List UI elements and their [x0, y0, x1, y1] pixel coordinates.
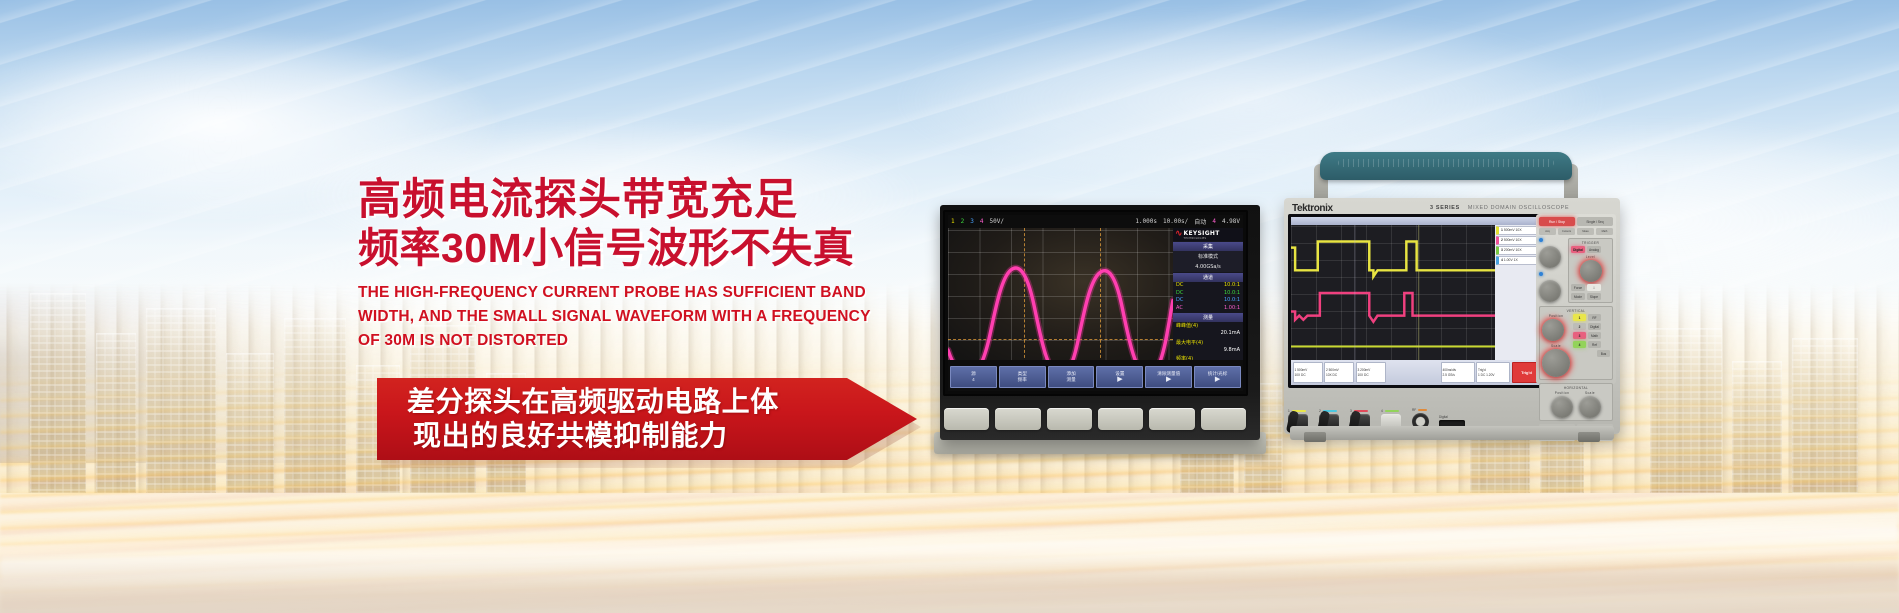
tk-badge-scale: 1.00V	[1504, 258, 1513, 262]
ks-coupling: DC	[1176, 282, 1183, 290]
tk-setting-ch2[interactable]: 2 500mV 10X DC	[1324, 362, 1354, 383]
tk-settings-spacer	[1387, 363, 1439, 382]
channel-3-button[interactable]: 3	[1573, 332, 1586, 339]
ks-sk-arrow-icon: ▶	[1117, 376, 1122, 383]
bottom-fade	[0, 553, 1899, 613]
tk-top-toolbar[interactable]	[1291, 217, 1543, 225]
tektronix-model-line: 3 SERIESMIXED DOMAIN OSCILLOSCOPE	[1430, 205, 1569, 211]
horizontal-position-label: Position	[1551, 391, 1573, 395]
ks-meas-value: 20.1mA	[1176, 330, 1240, 337]
tk-badge-atten: 10X	[1516, 238, 1522, 242]
ks-channel-row: DC 10.0:1	[1173, 297, 1243, 305]
run-stop-button[interactable]: Run / Stop	[1539, 217, 1575, 226]
ref-button[interactable]: Ref	[1588, 341, 1601, 348]
subheadline-line-2: WIDTH, AND THE SMALL SIGNAL WAVEFORM WIT…	[358, 305, 918, 329]
trigger-analog-button[interactable]: Analog	[1587, 246, 1601, 253]
tektronix-carry-handle[interactable]	[1320, 152, 1572, 180]
rf-button[interactable]: RF	[1588, 314, 1601, 321]
subheadline-line-1: THE HIGH-FREQUENCY CURRENT PROBE HAS SUF…	[358, 281, 918, 305]
channel-1-button[interactable]: 1	[1573, 314, 1586, 321]
keysight-softkey-row: 源 4 类型 频率 添加 测量 设置 ▶	[948, 360, 1243, 391]
ks-ratio: 1.00:1	[1224, 305, 1240, 313]
ks-meas-value: 9.8mA	[1176, 347, 1240, 354]
trigger-mode-button[interactable]: Mode	[1571, 293, 1585, 300]
ks-sk-line2: 测量	[1066, 377, 1075, 383]
ks-front-button[interactable]	[1047, 408, 1092, 430]
bnc-4-number: 4	[1381, 409, 1383, 413]
keysight-brand-text: KEYSIGHT	[1184, 230, 1220, 237]
ks-ratio: 10.0:1	[1224, 282, 1240, 290]
tk-setting-line2: 10X DC	[1295, 373, 1321, 377]
trigger-level-label: Level	[1571, 255, 1610, 259]
vertical-position-label: Position	[1542, 314, 1570, 318]
digital-button[interactable]: Digital	[1588, 323, 1601, 330]
ks-coupling: DC	[1176, 297, 1183, 305]
acquire-button[interactable]: Acq	[1539, 228, 1556, 235]
headline-line-2: 频率30M小信号波形不失真	[358, 226, 918, 272]
ks-sk-line2: 频率	[1018, 377, 1027, 383]
subheadline-line-3: OF 30M IS NOT DISTORTED	[358, 329, 918, 353]
rf-color-stripe	[1418, 409, 1427, 412]
tk-badge-atten: 10X	[1516, 248, 1522, 252]
ks-acquire-mode: 标准模式	[1173, 251, 1243, 262]
tk-setting-line2: 10X DC	[1358, 373, 1384, 377]
tektronix-foot	[1578, 432, 1600, 442]
ks-channel-1-label: 1	[948, 218, 958, 225]
tk-multipurpose-knobs	[1539, 238, 1565, 306]
keysight-brand-sub: TECHNOLOGIES	[1184, 237, 1220, 240]
ks-ratio: 10.0:1	[1224, 290, 1240, 298]
ks-measurement: 峰峰值(4) 20.1mA	[1173, 322, 1243, 339]
tk-setting-ch3[interactable]: 3 200mV 10X DC	[1356, 362, 1386, 383]
tk-badge-atten: 10X	[1516, 228, 1522, 232]
bnc-4-label: 4	[1381, 409, 1407, 413]
single-seq-button[interactable]: Single / Seq	[1577, 217, 1613, 226]
ks-measurement: 最大电平(4) 9.8mA	[1173, 339, 1243, 356]
math-panel-button[interactable]: Math	[1588, 332, 1601, 339]
keysight-oscilloscope: 1 2 3 4 50V/ 1.000s 10.00s/ 自动 4 4.98V	[940, 205, 1260, 440]
knob-a-indicator-icon	[1539, 238, 1543, 242]
ks-trigger-source: 4	[1209, 218, 1219, 225]
tk-mini-button-row: Acq Cursors Meas Math	[1539, 228, 1613, 235]
ks-softkey-type[interactable]: 类型 频率	[999, 366, 1046, 388]
horizontal-scale-label: Scale	[1579, 391, 1601, 395]
trigger-section-label: TRIGGER	[1571, 241, 1610, 245]
ks-front-button[interactable]	[944, 408, 989, 430]
ks-front-button[interactable]	[1098, 408, 1143, 430]
ks-acquire-header: 采集	[1173, 242, 1243, 251]
keysight-front-buttons	[944, 402, 1246, 436]
trigger-digital-button[interactable]: Digital	[1571, 246, 1585, 253]
tk-model: MIXED DOMAIN OSCILLOSCOPE	[1468, 205, 1569, 211]
ks-meas-label: 最大电平(4)	[1176, 340, 1203, 346]
ks-front-button[interactable]	[1149, 408, 1194, 430]
horizontal-section-label: HORIZONTAL	[1542, 386, 1610, 390]
trigger-section: TRIGGER Digital Analog Level Force ⎍	[1568, 238, 1613, 303]
vertical-position-knob[interactable]	[1542, 319, 1564, 341]
trigger-force-button[interactable]: Force	[1571, 284, 1585, 291]
ks-sk-arrow-icon: ▶	[1166, 376, 1171, 383]
ks-vertical-scale: 50V/	[987, 218, 1007, 225]
ks-sk-arrow-icon: ▶	[1215, 376, 1220, 383]
math-button[interactable]: Math	[1596, 228, 1613, 235]
ribbon-line-1: 差分探头在高频驱动电路上体	[407, 385, 779, 419]
ks-timebase: 10.00s/	[1160, 218, 1191, 225]
cursors-button[interactable]: Cursors	[1558, 228, 1575, 235]
ks-acquire-rate: 4.00GSa/s	[1173, 262, 1243, 272]
ks-softkey-settings[interactable]: 设置 ▶	[1096, 366, 1143, 388]
ks-channel-row: DC 10.0:1	[1173, 282, 1243, 290]
ks-softkey-stats-cursor[interactable]: 统计/光标 ▶	[1194, 366, 1241, 388]
tk-badge-tag: 2	[1501, 238, 1503, 242]
tk-badge-atten: 1X	[1514, 258, 1518, 262]
horizontal-section: HORIZONTAL Position Scale	[1539, 383, 1613, 421]
ks-softkey-add-measurement[interactable]: 添加 测量	[1048, 366, 1095, 388]
channel-4-button[interactable]: 4	[1573, 341, 1586, 348]
bus-button[interactable]: Bus	[1597, 350, 1610, 357]
tk-badge-scale: 500mV	[1504, 238, 1515, 242]
trigger-slope-icon[interactable]: ⎍	[1587, 284, 1601, 291]
tk-run-row: Run / Stop Single / Seq	[1539, 217, 1613, 226]
channel-2-button[interactable]: 2	[1573, 323, 1586, 330]
keysight-side-panel: ∿ KEYSIGHT TECHNOLOGIES 采集 标准模式 4.00GSa/…	[1173, 228, 1243, 363]
tk-badge-scale: 500mV	[1504, 228, 1515, 232]
keysight-waveform-mark: ∿	[1175, 230, 1182, 239]
tektronix-chassis: Tektronix 3 SERIESMIXED DOMAIN OSCILLOSC…	[1284, 198, 1620, 434]
tektronix-control-panel: Run / Stop Single / Seq Acq Cursors Meas…	[1536, 214, 1616, 384]
tk-setting-line2: 10X DC	[1326, 373, 1352, 377]
ks-ratio: 10.0:1	[1224, 297, 1240, 305]
keysight-screen: 1 2 3 4 50V/ 1.000s 10.00s/ 自动 4 4.98V	[948, 215, 1243, 391]
tektronix-bottom-settings-bar: 1 500mV 10X DC 2 500mV 10X DC 3 200mV 10…	[1291, 360, 1543, 385]
trigger-level-knob[interactable]	[1580, 260, 1602, 282]
digital-label: Digital	[1439, 415, 1469, 419]
ks-trigger-mode: 自动	[1191, 217, 1209, 226]
keysight-status-bar: 1 2 3 4 50V/ 1.000s 10.00s/ 自动 4 4.98V	[948, 215, 1243, 228]
rf-text: RF	[1412, 408, 1416, 412]
ks-measure-header: 测量	[1173, 313, 1243, 322]
keysight-bezel: 1 2 3 4 50V/ 1.000s 10.00s/ 自动 4 4.98V	[943, 210, 1248, 396]
ks-coupling: DC	[1176, 290, 1183, 298]
ks-channel-3-label: 3	[967, 218, 977, 225]
tektronix-screen[interactable]: 1 500mV 10X 2 500mV 10X 3 200mV 10X	[1291, 217, 1543, 385]
measure-button[interactable]: Meas	[1577, 228, 1594, 235]
tektronix-base-strip	[1290, 426, 1614, 440]
tk-setting-trigger[interactable]: Trig'd 1 DC 1.20V	[1476, 362, 1510, 383]
promo-banner: 1 2 3 4 50V/ 1.000s 10.00s/ 自动 4 4.98V	[0, 0, 1899, 613]
tk-setting-timebase[interactable]: 400ns/div 2.5 GS/s	[1441, 362, 1475, 383]
tk-series: 3 SERIES	[1430, 205, 1460, 211]
tk-badge-scale: 200mV	[1504, 248, 1515, 252]
ribbon-text-block: 差分探头在高频驱动电路上体 现出的良好共模抑制能力	[377, 385, 779, 453]
ks-channel-header: 通道	[1173, 273, 1243, 282]
tk-badge-tag: 4	[1501, 258, 1503, 262]
tektronix-oscilloscope: Tektronix 3 SERIESMIXED DOMAIN OSCILLOSC…	[1272, 152, 1632, 452]
keysight-logo: ∿ KEYSIGHT TECHNOLOGIES	[1173, 228, 1243, 241]
tektronix-screen-frame: 1 500mV 10X 2 500mV 10X 3 200mV 10X	[1288, 214, 1546, 388]
red-arrow-ribbon: 差分探头在高频驱动电路上体 现出的良好共模抑制能力	[377, 378, 917, 460]
ks-coupling: AC	[1176, 305, 1183, 313]
ks-timebase-pos: 1.000s	[1132, 218, 1160, 225]
ks-meas-label: 峰峰值(4)	[1176, 323, 1198, 329]
ks-trigger-level: 4.98V	[1219, 218, 1243, 225]
tektronix-waveforms	[1291, 225, 1497, 367]
ks-front-button[interactable]	[1201, 408, 1246, 430]
tk-badge-tag: 1	[1501, 228, 1503, 232]
ks-softkey-source[interactable]: 源 4	[950, 366, 997, 388]
vertical-scale-knob[interactable]	[1542, 349, 1570, 377]
tk-setting-line2: 1 DC 1.20V	[1478, 373, 1508, 377]
rf-label: RF	[1412, 408, 1434, 412]
vertical-section: VERTICAL Position Scale 1 RF	[1539, 306, 1613, 380]
horizontal-scale-knob[interactable]	[1579, 396, 1601, 418]
ks-front-button[interactable]	[995, 408, 1040, 430]
ks-channel-2-label: 2	[958, 218, 968, 225]
knob-b-indicator-icon	[1539, 272, 1543, 276]
tektronix-input-connectors: 1 2 3 4 RF	[1288, 388, 1538, 430]
digital-text: Digital	[1439, 415, 1448, 419]
tk-badge-tag: 3	[1501, 248, 1503, 252]
trigger-menu-button[interactable]: Slope	[1587, 293, 1601, 300]
headline-line-1: 高频电流探头带宽充足	[358, 178, 918, 224]
ks-channel-4-label: 4	[977, 218, 987, 225]
headline-text-block: 高频电流探头带宽充足 频率30M小信号波形不失真 THE HIGH-FREQUE…	[358, 178, 918, 352]
multipurpose-knob-b[interactable]	[1539, 280, 1561, 302]
multipurpose-knob-a[interactable]	[1539, 246, 1561, 268]
tk-setting-line2: 2.5 GS/s	[1443, 373, 1473, 377]
ks-channel-row: AC 1.00:1	[1173, 305, 1243, 313]
ks-channel-row: DC 10.0:1	[1173, 290, 1243, 298]
ks-softkey-clear[interactable]: 清除测量值 ▶	[1145, 366, 1192, 388]
tektronix-foot	[1304, 432, 1326, 442]
ribbon-line-2: 现出的良好共模抑制能力	[407, 419, 779, 453]
channel-4-color-stripe	[1385, 410, 1399, 413]
horizontal-position-knob[interactable]	[1551, 396, 1573, 418]
vertical-section-label: VERTICAL	[1542, 309, 1610, 313]
keysight-chassis: 1 2 3 4 50V/ 1.000s 10.00s/ 自动 4 4.98V	[940, 205, 1260, 440]
tk-setting-ch1[interactable]: 1 500mV 10X DC	[1293, 362, 1323, 383]
vertical-scale-label: Scale	[1542, 344, 1570, 348]
ks-sk-line2: 4	[972, 377, 975, 383]
tektronix-brand: Tektronix	[1292, 203, 1333, 214]
subheadline-block: THE HIGH-FREQUENCY CURRENT PROBE HAS SUF…	[358, 281, 918, 352]
